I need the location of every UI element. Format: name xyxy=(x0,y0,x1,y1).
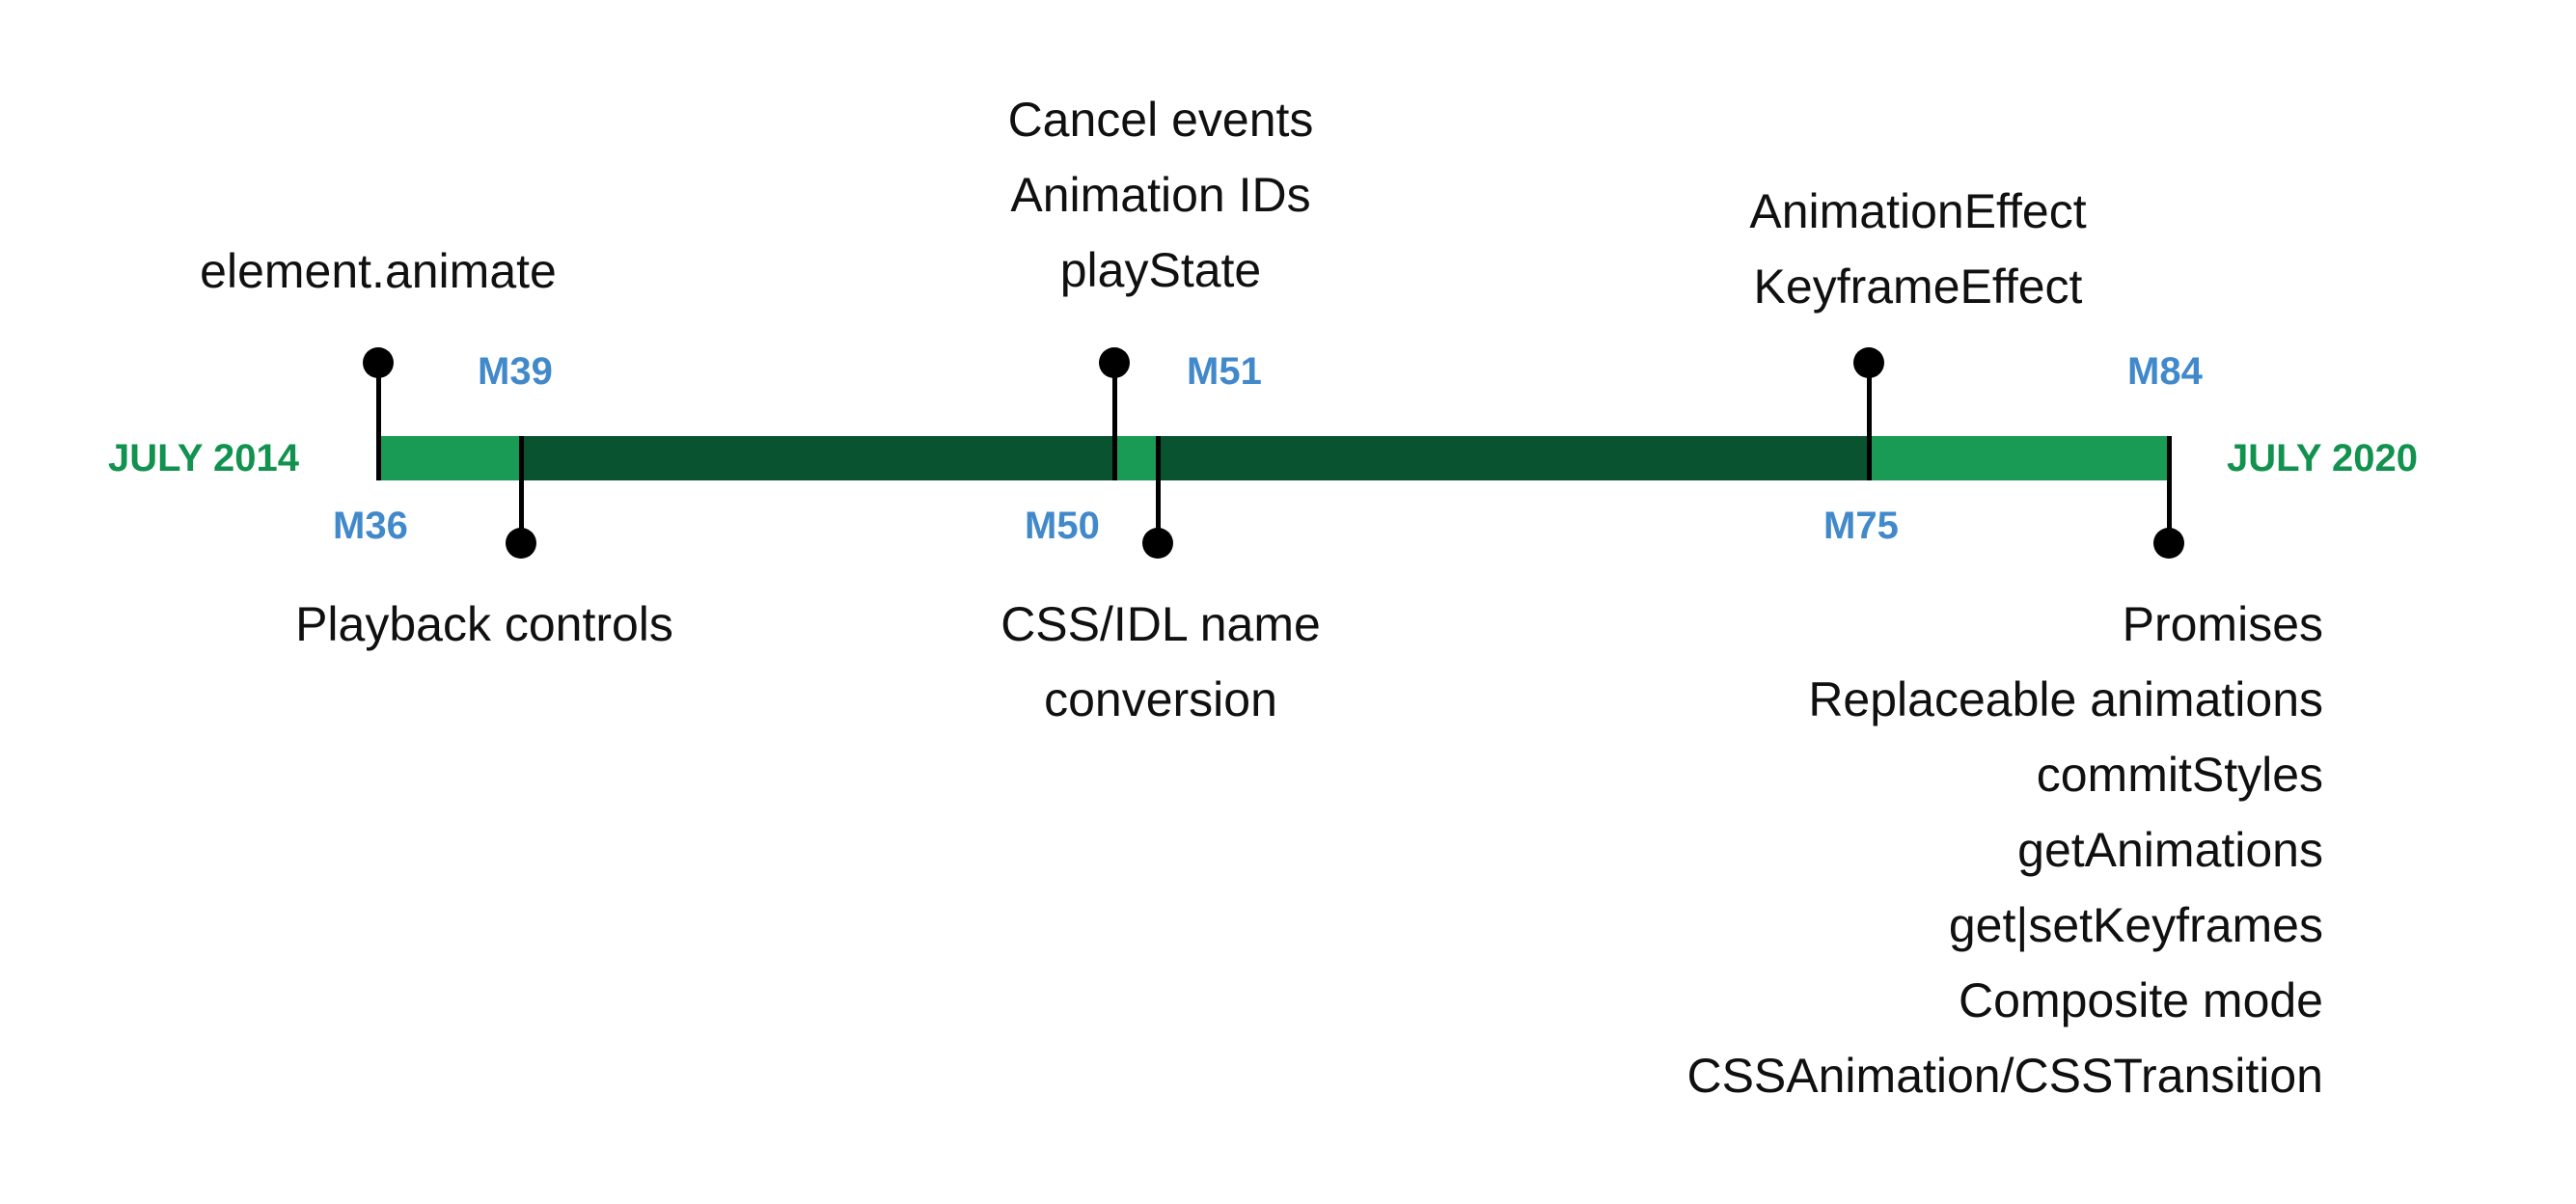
marker-stem-m75 xyxy=(1867,374,1872,480)
marker-dot-m51[interactable] xyxy=(1142,528,1173,559)
marker-dot-m84[interactable] xyxy=(2153,528,2184,559)
milestone-label-m36: M36 xyxy=(333,506,408,545)
feature-label-m84: Promises Replaceable animations commitSt… xyxy=(1235,587,2323,1113)
marker-stem-m36 xyxy=(376,374,381,480)
marker-dot-m36[interactable] xyxy=(363,347,394,378)
marker-stem-m51 xyxy=(1156,436,1161,542)
milestone-label-m84: M84 xyxy=(2127,352,2203,391)
feature-label-m50: Cancel events Animation IDs playState xyxy=(871,82,1450,308)
marker-stem-m39 xyxy=(519,436,524,542)
bar-segment-m50-m51 xyxy=(1114,436,1158,480)
bar-segment-m36-m39 xyxy=(378,436,521,480)
marker-stem-m84 xyxy=(2167,436,2172,542)
bar-segment-m51-m75 xyxy=(1158,436,1869,480)
bar-segment-m75-m84 xyxy=(1869,436,2169,480)
marker-dot-m75[interactable] xyxy=(1853,347,1884,378)
milestone-label-m39: M39 xyxy=(478,352,553,391)
milestone-label-m75: M75 xyxy=(1823,506,1899,545)
bar-segment-m39-m50 xyxy=(521,436,1114,480)
marker-stem-m50 xyxy=(1112,374,1117,480)
timeline-start-label: JULY 2014 xyxy=(108,436,299,480)
timeline-diagram: JULY 2014 JULY 2020 element.animate M36 … xyxy=(0,0,2576,1204)
feature-label-m36: element.animate xyxy=(89,233,668,309)
feature-label-m39: Playback controls xyxy=(214,587,754,662)
marker-dot-m50[interactable] xyxy=(1099,347,1130,378)
feature-label-m75: AnimationEffect KeyframeEffect xyxy=(1629,174,2207,324)
timeline-bar xyxy=(378,436,2169,480)
milestone-label-m51: M51 xyxy=(1187,352,1262,391)
marker-dot-m39[interactable] xyxy=(506,528,536,559)
milestone-label-m50: M50 xyxy=(1025,506,1100,545)
timeline-end-label: JULY 2020 xyxy=(2227,436,2418,480)
